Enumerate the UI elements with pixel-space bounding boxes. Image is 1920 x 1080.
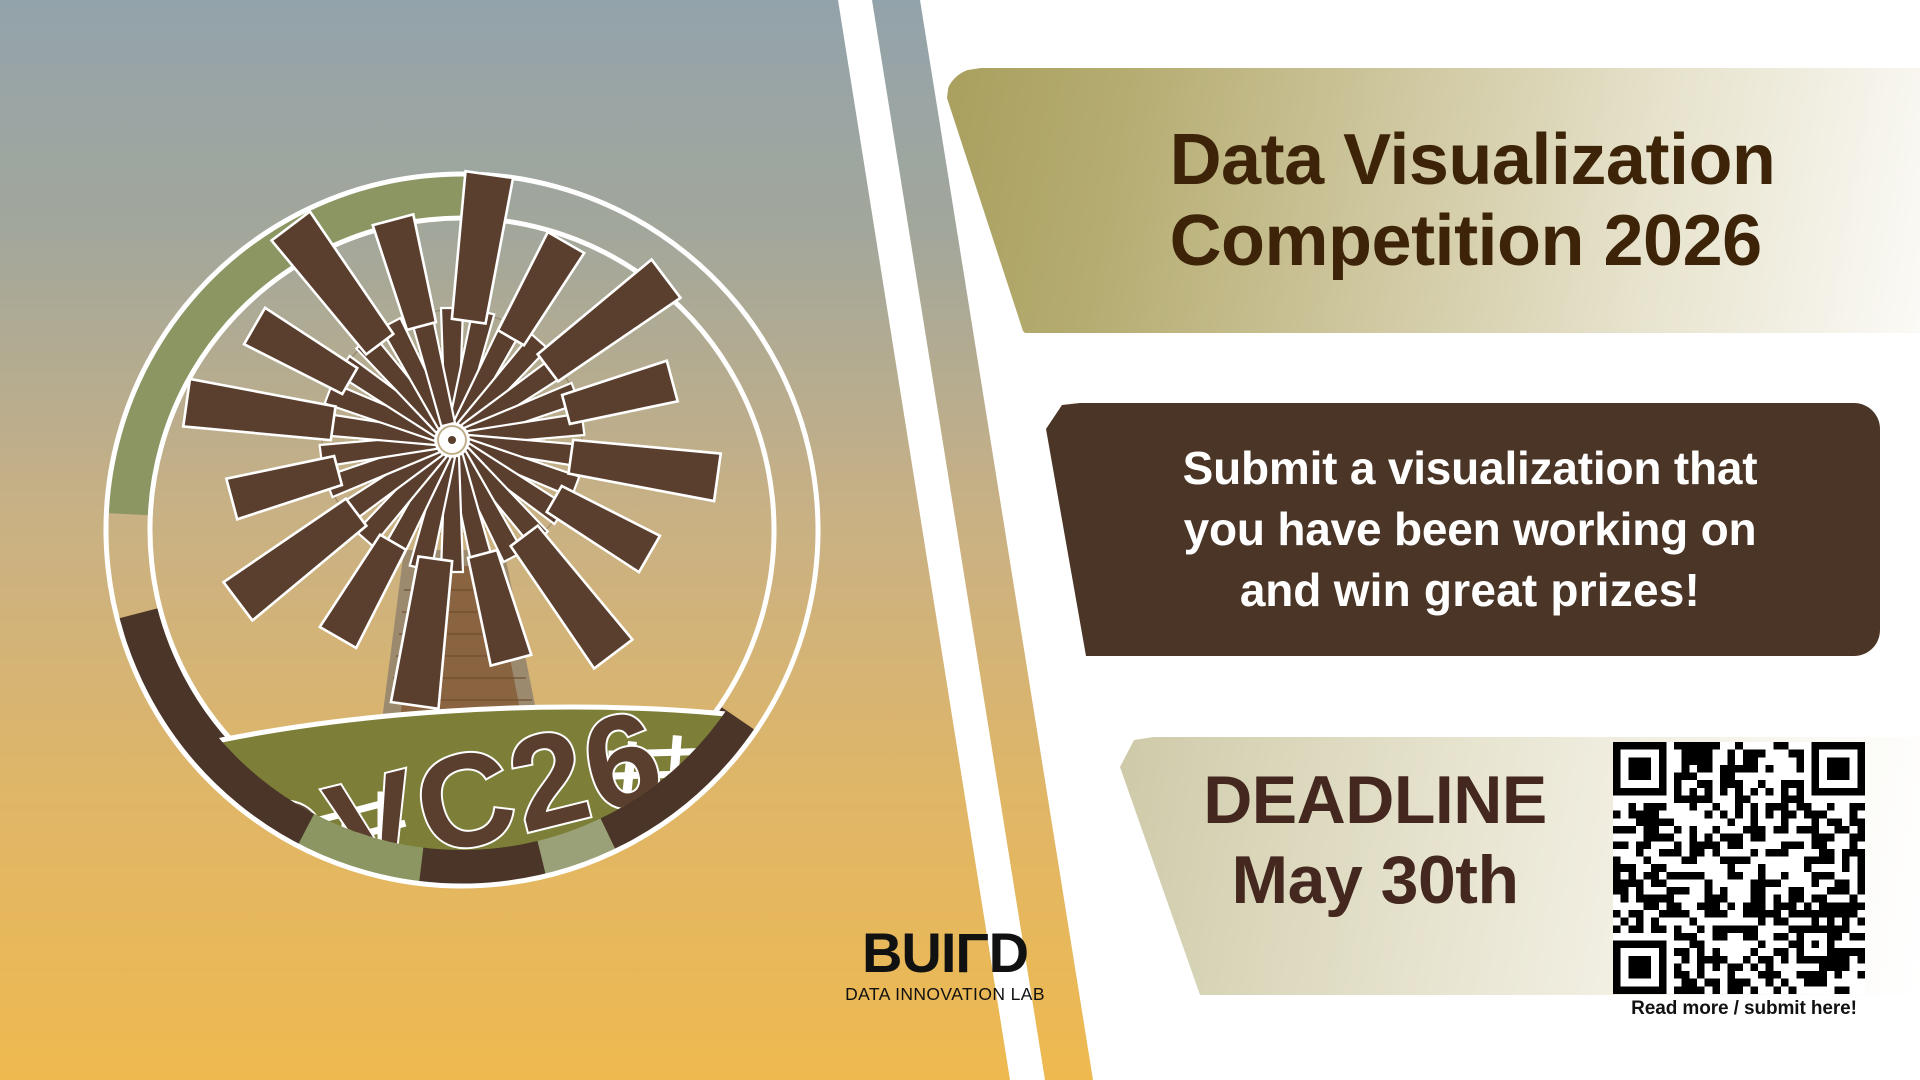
deadline-label: DEADLINE bbox=[1165, 760, 1585, 840]
build-word-part2: D bbox=[989, 921, 1028, 984]
build-tagline: DATA INNOVATION LAB bbox=[845, 984, 1045, 1005]
submit-callout-text: Submit a visualization that you have bee… bbox=[1129, 438, 1792, 622]
qr-code-icon[interactable] bbox=[1613, 742, 1865, 994]
submit-line-3: and win great prizes! bbox=[1183, 560, 1758, 621]
title-banner: Data Visualization Competition 2026 bbox=[945, 68, 1920, 333]
qr-code-block[interactable]: Read more / submit here! bbox=[1613, 742, 1875, 1020]
build-word-flipped-l: L bbox=[955, 925, 988, 981]
build-word-part1: BUI bbox=[862, 921, 955, 984]
submit-line-3-plain: and bbox=[1240, 564, 1334, 616]
title-line-2: Competition 2026 bbox=[1170, 201, 1776, 282]
submit-line-2: you have been working on bbox=[1183, 499, 1758, 560]
build-logo: BUILD DATA INNOVATION LAB bbox=[845, 925, 1045, 1005]
submit-line-1: Submit a visualization that bbox=[1183, 438, 1758, 499]
build-wordmark: BUILD bbox=[845, 925, 1045, 981]
submit-callout-box: Submit a visualization that you have bee… bbox=[1040, 403, 1880, 656]
deadline-date: May 30th bbox=[1165, 840, 1585, 920]
dvc26-emblem-logo: DVC26 BUILD bbox=[52, 120, 872, 940]
qr-caption: Read more / submit here! bbox=[1613, 998, 1875, 1020]
submit-line-3-emphasis: win great prizes! bbox=[1334, 564, 1700, 616]
page-title: Data Visualization Competition 2026 bbox=[1060, 120, 1806, 281]
bird-icon bbox=[750, 709, 820, 763]
deadline-text: DEADLINE May 30th bbox=[1165, 760, 1585, 920]
title-line-1: Data Visualization bbox=[1170, 120, 1776, 201]
poster-canvas: DVC26 BUILD BUILD DATA INNOVATION LAB bbox=[0, 0, 1920, 1080]
